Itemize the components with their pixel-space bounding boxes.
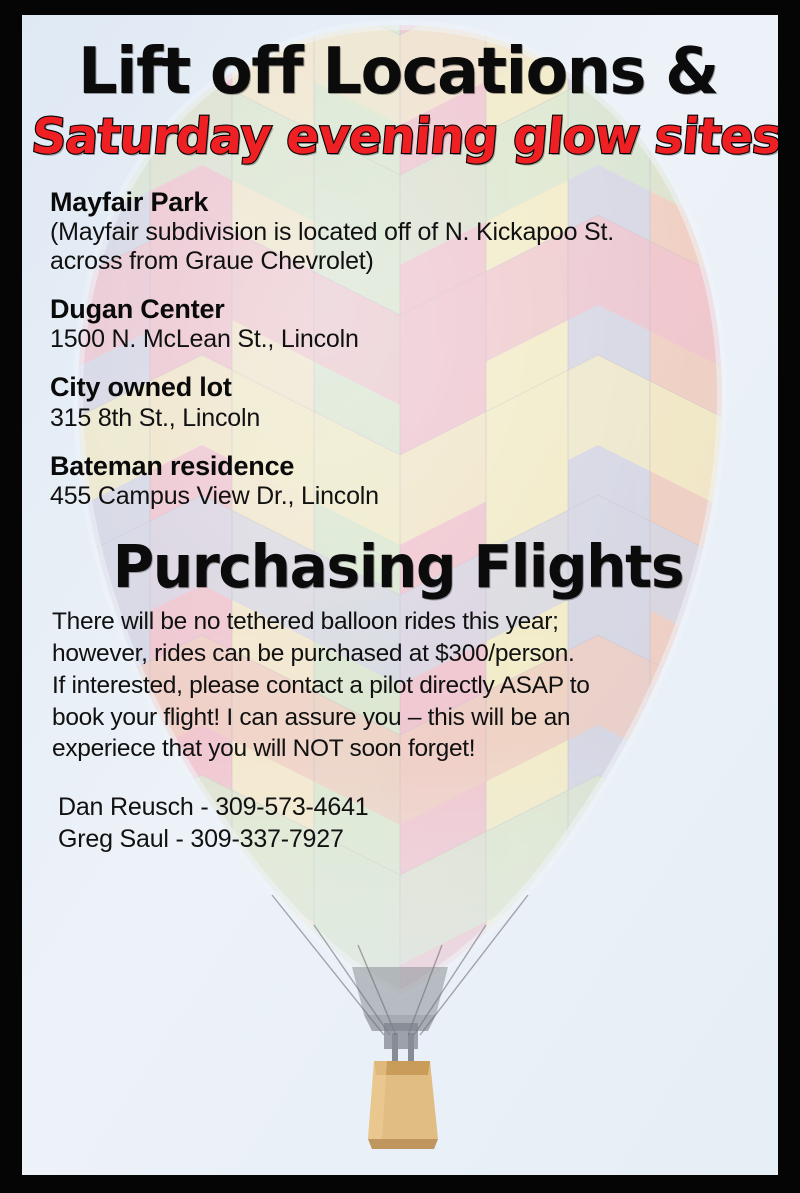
purchasing-body: There will be no tethered balloon rides … xyxy=(52,606,752,765)
location-address-line: 455 Campus View Dr., Lincoln xyxy=(50,482,768,511)
contact-line: Dan Reusch - 309-573-4641 xyxy=(58,791,768,823)
location-name: Bateman residence xyxy=(50,451,768,482)
body-line: book your flight! I can assure you – thi… xyxy=(52,702,752,734)
contact-line: Greg Saul - 309-337-7927 xyxy=(58,823,768,855)
location-address: (Mayfair subdivision is located off of N… xyxy=(50,218,768,276)
poster-frame: Lift off Locations & Saturday evening gl… xyxy=(0,0,800,1193)
body-line: If interested, please contact a pilot di… xyxy=(52,670,752,702)
locations-list: Mayfair Park (Mayfair subdivision is loc… xyxy=(50,187,768,511)
location-address: 455 Campus View Dr., Lincoln xyxy=(50,482,768,511)
body-line: however, rides can be purchased at $300/… xyxy=(52,638,752,670)
list-item: City owned lot 315 8th St., Lincoln xyxy=(50,372,768,432)
contacts-list: Dan Reusch - 309-573-4641 Greg Saul - 30… xyxy=(58,791,768,855)
poster-canvas: Lift off Locations & Saturday evening gl… xyxy=(22,15,778,1175)
body-line: There will be no tethered balloon rides … xyxy=(52,606,752,638)
location-name: Mayfair Park xyxy=(50,187,768,218)
list-item: Mayfair Park (Mayfair subdivision is loc… xyxy=(50,187,768,276)
page-title: Lift off Locations & xyxy=(39,41,757,104)
location-address: 1500 N. McLean St., Lincoln xyxy=(50,325,768,354)
body-line: experiece that you will NOT soon forget! xyxy=(52,733,752,765)
list-item: Bateman residence 455 Campus View Dr., L… xyxy=(50,451,768,511)
location-name: Dugan Center xyxy=(50,294,768,325)
list-item: Dugan Center 1500 N. McLean St., Lincoln xyxy=(50,294,768,354)
location-address-line: across from Graue Chevrolet) xyxy=(50,247,768,276)
location-address: 315 8th St., Lincoln xyxy=(50,404,768,433)
location-address-line: (Mayfair subdivision is located off of N… xyxy=(50,218,768,247)
poster-content: Lift off Locations & Saturday evening gl… xyxy=(22,15,778,1175)
location-address-line: 1500 N. McLean St., Lincoln xyxy=(50,325,768,354)
location-address-line: 315 8th St., Lincoln xyxy=(50,404,768,433)
page-subtitle: Saturday evening glow sites xyxy=(30,112,767,161)
purchasing-flights-heading: Purchasing Flights xyxy=(43,537,753,596)
location-name: City owned lot xyxy=(50,372,768,403)
